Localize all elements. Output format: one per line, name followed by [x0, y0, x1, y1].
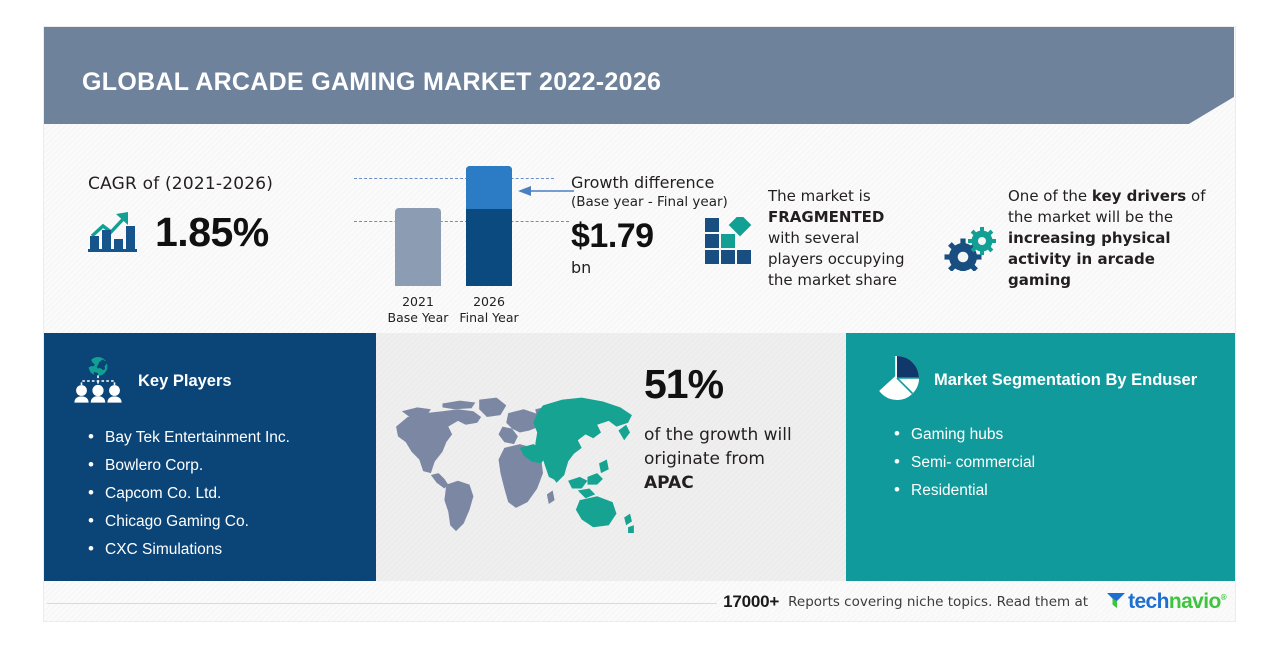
segmentation-panel: Market Segmentation By Enduser Gaming hu… [846, 333, 1235, 581]
key-drivers-text: One of the key drivers of the market wil… [1008, 186, 1208, 291]
bar-role-2021: Base Year [378, 310, 458, 326]
cagr-label: CAGR of (2021-2026) [88, 174, 273, 194]
bar-growth-segment [466, 166, 512, 209]
footer: 17000+ Reports covering niche topics. Re… [44, 581, 1235, 623]
gridline-top [354, 178, 554, 179]
key-players-panel: Key Players Bay Tek Entertainment Inc. B… [44, 333, 376, 581]
bar-base-year [395, 208, 441, 286]
page-title: GLOBAL ARCADE GAMING MARKET 2022-2026 [82, 68, 661, 97]
fragmented-market-text: The market is FRAGMENTED with several pl… [768, 186, 920, 291]
footer-content: 17000+ Reports covering niche topics. Re… [717, 589, 1232, 614]
cagr-value-row: 1.85% [88, 208, 273, 257]
footer-message: Reports covering niche topics. Read them… [788, 594, 1088, 610]
globe-people-network-icon [72, 355, 124, 408]
segmentation-title: Market Segmentation By Enduser [934, 370, 1197, 391]
bar-label-2026: 2026 Final Year [449, 294, 529, 326]
arrow-left-icon [518, 184, 574, 196]
technavio-logo[interactable]: technavio® [1106, 589, 1226, 614]
panels-row: Key Players Bay Tek Entertainment Inc. B… [44, 333, 1235, 581]
squares-diamond-icon [704, 217, 754, 265]
technavio-mark-icon [1106, 589, 1126, 614]
list-item: Capcom Co. Ltd. [105, 480, 376, 508]
list-item: Bay Tek Entertainment Inc. [105, 424, 376, 452]
top-stats-row: CAGR of (2021-2026) 1.85% [44, 124, 1235, 327]
fragmented-emphasis: FRAGMENTED [768, 208, 884, 226]
cagr-block: CAGR of (2021-2026) 1.85% [88, 174, 273, 257]
bar-chart-growth-icon [88, 208, 138, 257]
infographic-root: GLOBAL ARCADE GAMING MARKET 2022-2026 CA… [0, 0, 1279, 670]
region-desc-line2: originate from [644, 449, 765, 469]
key-drivers-emphasis2: increasing physical activity in arcade g… [1008, 229, 1171, 289]
list-item: CXC Simulations [105, 536, 376, 564]
key-players-title: Key Players [138, 371, 232, 392]
region-description: of the growth will originate from APAC [644, 423, 844, 495]
list-item: Residential [911, 477, 1235, 505]
technavio-wordmark: technavio® [1128, 590, 1226, 614]
key-drivers-emphasis1: key drivers [1092, 187, 1186, 205]
world-map-icon [388, 388, 640, 533]
fragmented-market-block: The market is FRAGMENTED with several pl… [704, 186, 920, 291]
bar-final-year [466, 166, 512, 286]
infographic-card: GLOBAL ARCADE GAMING MARKET 2022-2026 CA… [43, 26, 1236, 622]
fragmented-line4: the market share [768, 271, 897, 289]
region-stat-block: 51% of the growth will originate from AP… [644, 361, 844, 495]
region-percent: 51% [644, 361, 844, 407]
bar-year-2021: 2021 [378, 294, 458, 310]
logo-navio-text: navio [1169, 590, 1221, 613]
logo-trademark: ® [1221, 593, 1226, 602]
list-item: Semi- commercial [911, 449, 1235, 477]
fragmented-line3: players occupying [768, 250, 905, 268]
pie-chart-icon [874, 355, 920, 406]
key-players-header: Key Players [72, 355, 376, 408]
bar-role-2026: Final Year [449, 310, 529, 326]
cagr-value: 1.85% [155, 209, 269, 256]
gears-icon [944, 226, 996, 271]
key-drivers-block: One of the key drivers of the market wil… [944, 186, 1208, 291]
list-item: Bowlero Corp. [105, 452, 376, 480]
segmentation-list: Gaming hubs Semi- commercial Residential [874, 421, 1235, 505]
list-item: Chicago Gaming Co. [105, 508, 376, 536]
bar-year-2026: 2026 [449, 294, 529, 310]
key-players-list: Bay Tek Entertainment Inc. Bowlero Corp.… [72, 424, 376, 564]
segmentation-header: Market Segmentation By Enduser [874, 355, 1235, 406]
gridline-mid [354, 221, 569, 222]
region-desc-line1: of the growth will [644, 425, 792, 445]
list-item: Gaming hubs [911, 421, 1235, 449]
fragmented-line1: The market is [768, 187, 871, 205]
header-banner: GLOBAL ARCADE GAMING MARKET 2022-2026 [44, 27, 1234, 124]
bar-label-2021: 2021 Base Year [378, 294, 458, 326]
key-drivers-line1: One of the [1008, 187, 1092, 205]
logo-tech-text: tech [1128, 590, 1169, 613]
region-growth-panel: 51% of the growth will originate from AP… [376, 333, 846, 581]
region-name: APAC [644, 473, 694, 493]
reports-count: 17000+ [723, 592, 779, 612]
fragmented-line2: with several [768, 229, 859, 247]
